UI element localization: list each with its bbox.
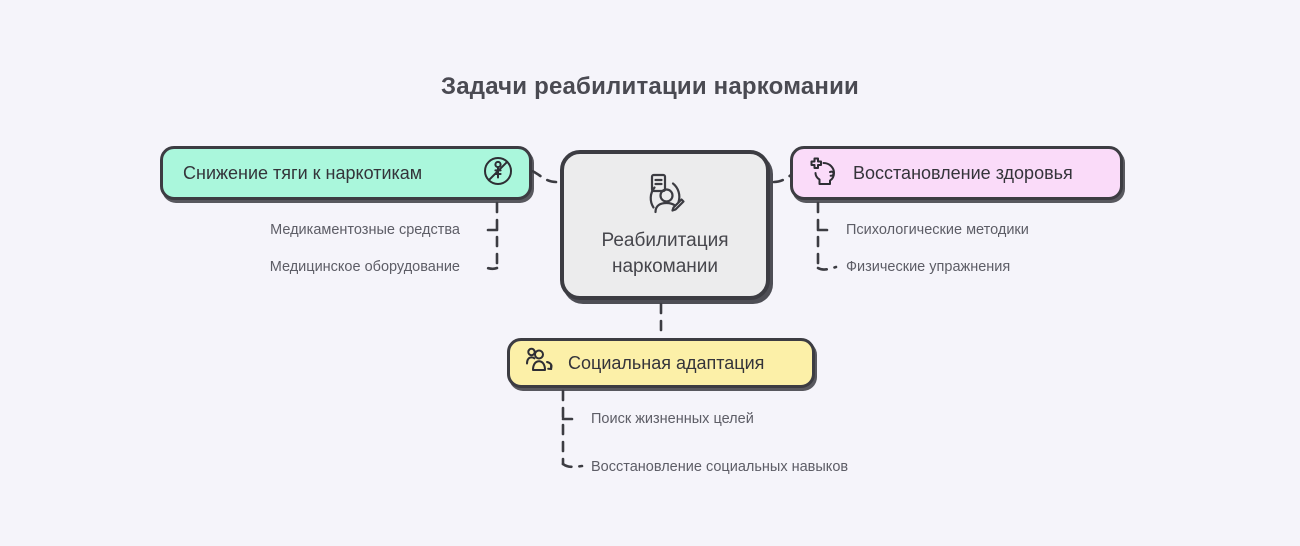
connector-right-sub-2 xyxy=(818,267,836,270)
subitem-left-1: Медикаментозные средства xyxy=(270,222,460,238)
person-document-pencil-icon xyxy=(637,171,693,224)
node-branch-right-label: Восстановление здоровья xyxy=(853,163,1073,184)
connector-center-left xyxy=(530,170,556,182)
no-drugs-icon xyxy=(481,154,515,193)
node-branch-left[interactable]: Снижение тяги к наркотикам xyxy=(160,146,532,200)
node-branch-right[interactable]: Восстановление здоровья xyxy=(790,146,1123,200)
node-branch-left-label: Снижение тяги к наркотикам xyxy=(183,163,422,184)
node-branch-bottom[interactable]: Социальная адаптация xyxy=(507,338,815,388)
connector-bottom-sub-2 xyxy=(563,464,582,467)
head-medical-cross-icon xyxy=(807,154,841,193)
subitem-bottom-1: Поиск жизненных целей xyxy=(591,411,754,427)
subitem-right-1: Психологические методики xyxy=(846,222,1029,238)
connector-left-sub-2 xyxy=(482,266,497,269)
subitem-left-2: Медицинское оборудование xyxy=(270,259,460,275)
people-group-arrow-icon xyxy=(524,345,558,382)
subitem-bottom-2: Восстановление социальных навыков xyxy=(591,459,848,475)
mindmap-canvas: Задачи реабилитации наркомании xyxy=(0,0,1300,546)
subitem-right-2: Физические упражнения xyxy=(846,259,1010,275)
node-center-label: Реабилитациянаркомании xyxy=(601,228,728,278)
page-title: Задачи реабилитации наркомании xyxy=(0,73,1300,101)
node-center[interactable]: Реабилитациянаркомании xyxy=(560,150,770,300)
node-branch-bottom-label: Социальная адаптация xyxy=(568,353,764,374)
